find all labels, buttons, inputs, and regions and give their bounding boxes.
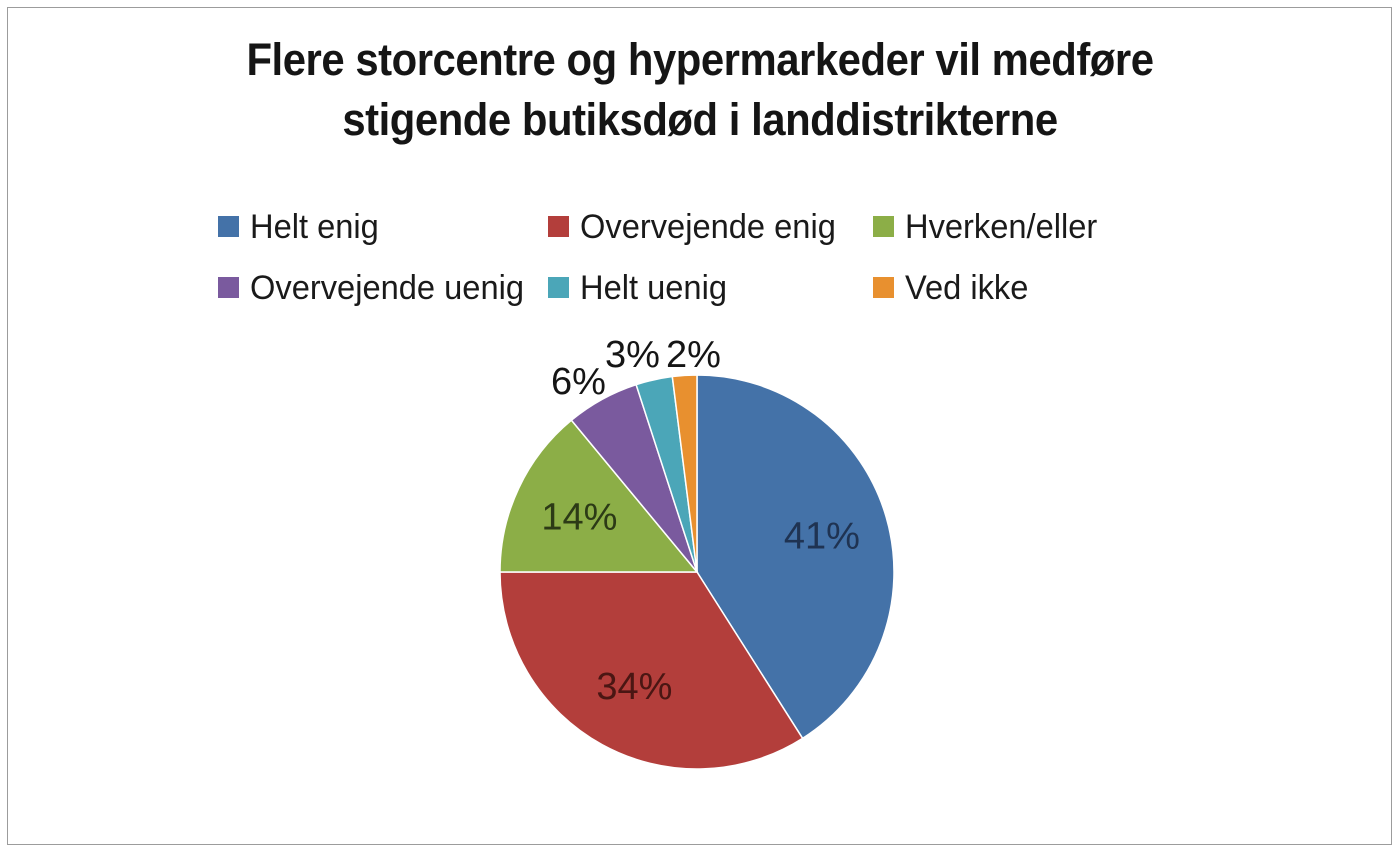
legend-swatch-icon	[218, 216, 239, 237]
pie-callout-label-overvejende-uenig: 6%	[551, 362, 606, 402]
pie-chart[interactable]: 41%34%14%	[480, 360, 920, 800]
pie-callout-label-helt-uenig: 3%	[605, 335, 660, 375]
pie-slice-label: 41%	[784, 516, 860, 558]
legend-swatch-icon	[873, 277, 894, 298]
legend-item-label: Overvejende enig	[580, 209, 836, 245]
chart-legend: Helt enig Overvejende enig Hverken/eller…	[218, 196, 1148, 318]
pie-slice-group	[500, 375, 894, 769]
chart-page: Flere storcentre og hypermarkeder vil me…	[0, 0, 1400, 853]
legend-item-ved-ikke[interactable]: Ved ikke	[873, 270, 1148, 306]
legend-swatch-icon	[218, 277, 239, 298]
legend-item-helt-uenig[interactable]: Helt uenig	[548, 270, 873, 306]
legend-item-overvejende-enig[interactable]: Overvejende enig	[548, 209, 873, 245]
pie-slice-label: 14%	[541, 497, 617, 539]
pie-callout-label-ved-ikke: 2%	[666, 335, 721, 375]
legend-item-helt-enig[interactable]: Helt enig	[218, 209, 548, 245]
legend-item-label: Hverken/eller	[905, 209, 1097, 245]
pie-slice-label: 34%	[596, 666, 672, 708]
pie-chart-area: 41%34%14% 6% 3% 2%	[0, 320, 1400, 840]
legend-swatch-icon	[548, 216, 569, 237]
legend-swatch-icon	[873, 216, 894, 237]
legend-item-label: Helt uenig	[580, 270, 727, 306]
legend-item-label: Overvejende uenig	[250, 270, 524, 306]
legend-swatch-icon	[548, 277, 569, 298]
legend-item-overvejende-uenig[interactable]: Overvejende uenig	[218, 270, 548, 306]
legend-item-hverken-eller[interactable]: Hverken/eller	[873, 209, 1148, 245]
chart-title: Flere storcentre og hypermarkeder vil me…	[49, 30, 1351, 150]
legend-item-label: Helt enig	[250, 209, 379, 245]
legend-item-label: Ved ikke	[905, 270, 1028, 306]
